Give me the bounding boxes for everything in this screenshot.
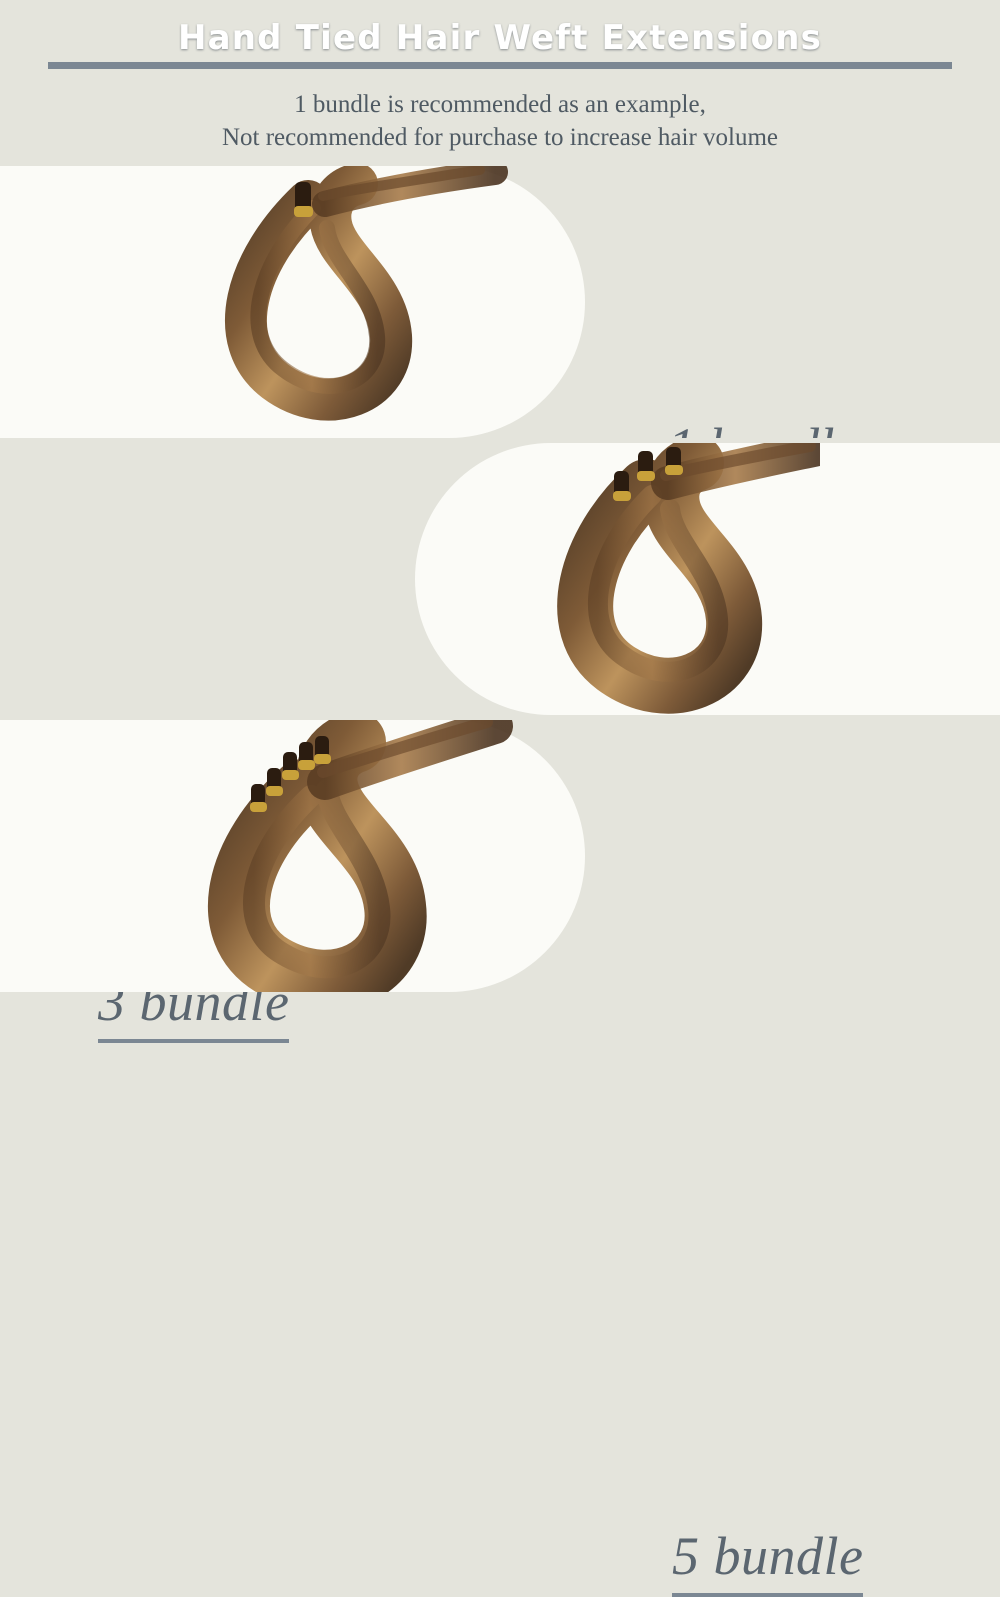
bundle-row-3: 5 bundle — [0, 720, 1000, 992]
subtitle-line-1: 1 bundle is recommended as an example, — [0, 88, 1000, 121]
hair-weft-image-2 — [400, 443, 820, 715]
caption-5-bundle: 5 bundle — [672, 1525, 863, 1597]
product-infographic: Hand Tied Hair Weft Extensions 1 bundle … — [0, 0, 1000, 1000]
header: Hand Tied Hair Weft Extensions 1 bundle … — [0, 0, 1000, 166]
bundle-row-1: 1 bundle — [0, 166, 1000, 438]
caption-3-underline — [98, 1039, 289, 1043]
page-title: Hand Tied Hair Weft Extensions — [0, 18, 1000, 58]
caption-5-bundle-text: 5 bundle — [672, 1526, 863, 1586]
hair-weft-image-1 — [205, 166, 625, 438]
subtitle-line-2: Not recommended for purchase to increase… — [0, 121, 1000, 154]
title-underline-bar — [48, 62, 952, 69]
subtitle: 1 bundle is recommended as an example, N… — [0, 88, 1000, 154]
bundle-row-2: 3 bundle — [0, 443, 1000, 715]
caption-5-underline — [672, 1593, 863, 1597]
hair-weft-image-3 — [195, 720, 615, 992]
